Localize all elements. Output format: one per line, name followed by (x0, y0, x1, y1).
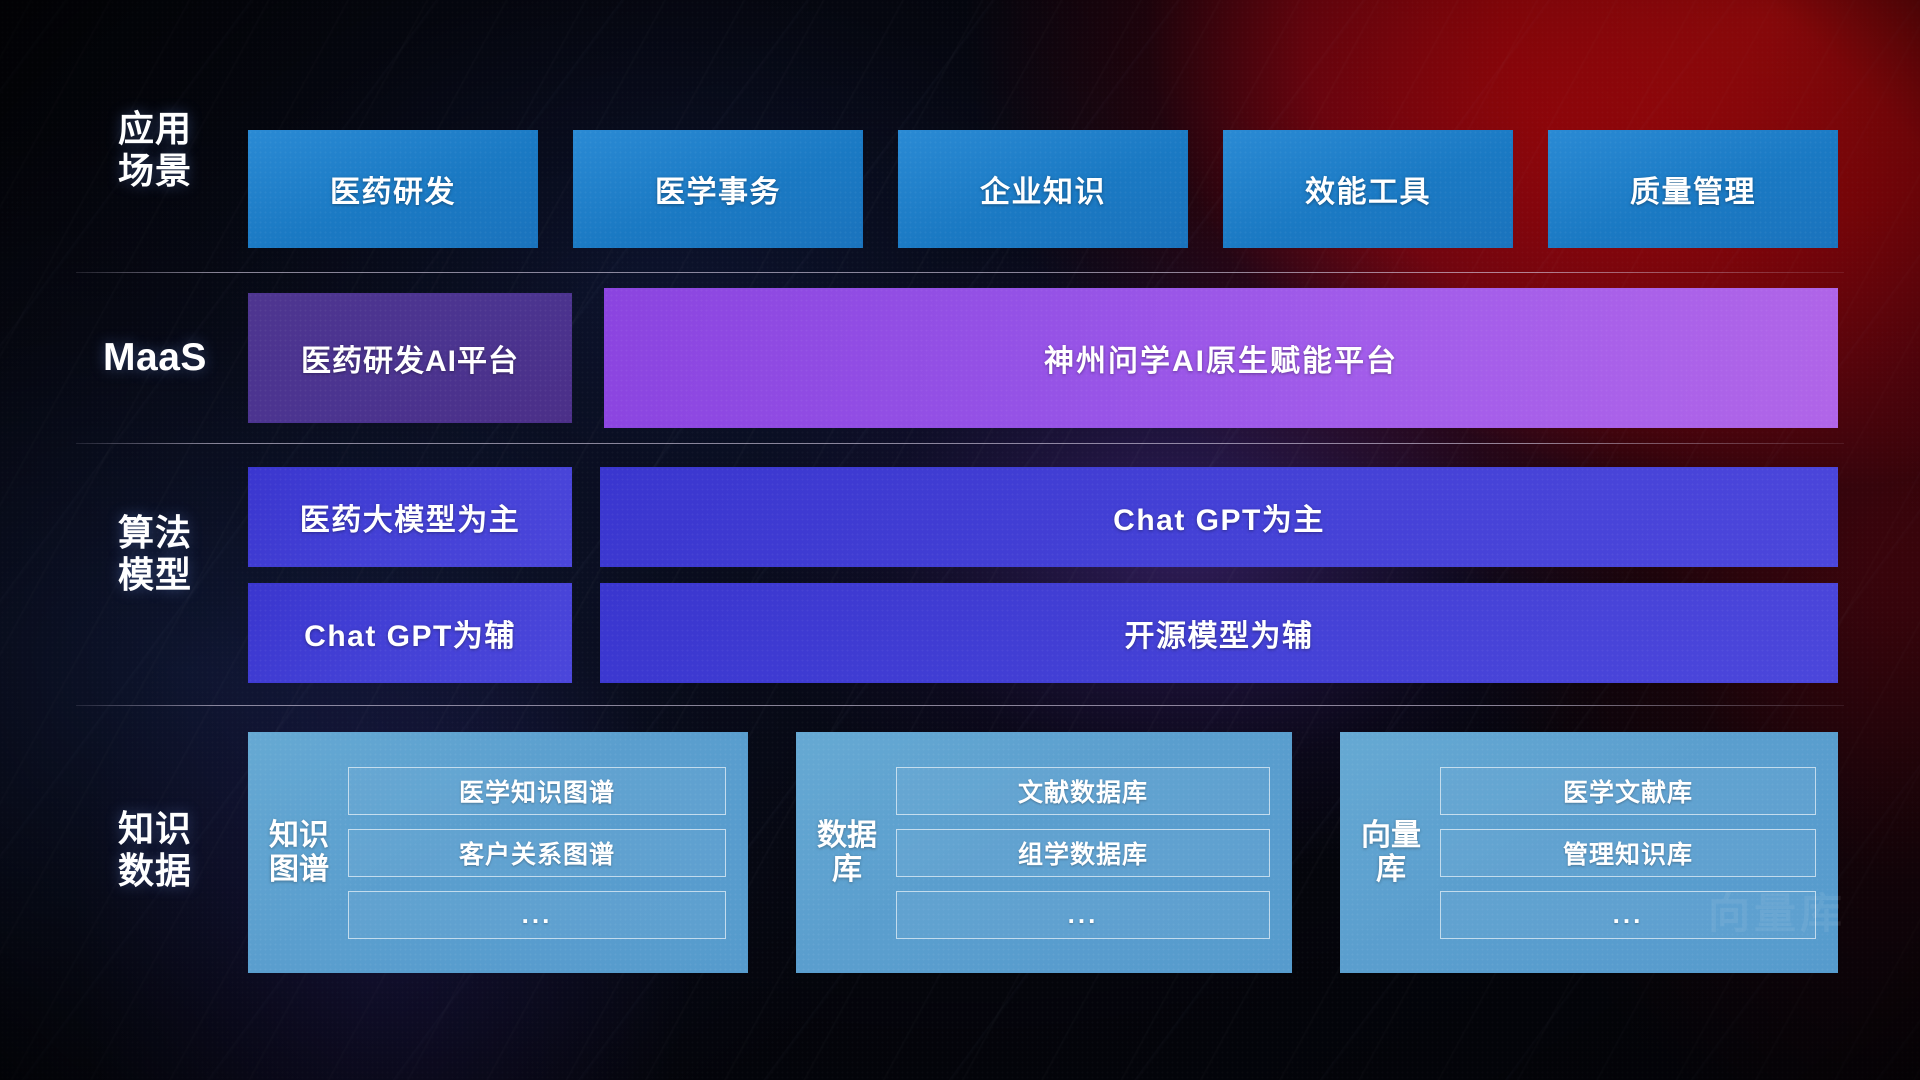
app-card-efficiency-tools-label: 效能工具 (1305, 167, 1431, 211)
app-card-enterprise-knowledge-label: 企业知识 (980, 167, 1106, 211)
app-card-medicine-rd[interactable]: 医药研发 (248, 130, 538, 248)
row-label-application: 应用 场景 (76, 108, 234, 193)
maas-card-shenzhou-ai-platform-label: 神州问学AI原生赋能平台 (1044, 336, 1398, 380)
algo-card-open-source-secondary[interactable]: 开源模型为辅 (600, 583, 1838, 683)
app-card-medical-affairs-label: 医学事务 (655, 167, 781, 211)
algo-card-open-source-secondary-label: 开源模型为辅 (1125, 611, 1314, 655)
algo-card-medicine-llm-primary-label: 医药大模型为主 (300, 495, 521, 539)
algo-card-chatgpt-primary[interactable]: Chat GPT为主 (600, 467, 1838, 567)
list-item-more[interactable]: ... (348, 891, 726, 939)
app-card-quality-management[interactable]: 质量管理 (1548, 130, 1838, 248)
knowledge-panel-vector-store-items: 医学文献库 管理知识库 ... (1428, 767, 1838, 939)
knowledge-panel-database-title: 数据库 (810, 819, 884, 886)
row-label-knowledge: 知识 数据 (76, 808, 234, 893)
list-item[interactable]: 医学知识图谱 (348, 767, 726, 815)
list-item[interactable]: 客户关系图谱 (348, 829, 726, 877)
divider-application-maas (76, 272, 1844, 273)
knowledge-panel-knowledge-graph[interactable]: 知识图谱 医学知识图谱 客户关系图谱 ... (248, 732, 748, 973)
list-item-more[interactable]: ... (1440, 891, 1816, 939)
list-item[interactable]: 组学数据库 (896, 829, 1270, 877)
divider-algorithm-knowledge (76, 705, 1844, 706)
list-item[interactable]: 管理知识库 (1440, 829, 1816, 877)
list-item-more[interactable]: ... (896, 891, 1270, 939)
maas-card-shenzhou-ai-platform[interactable]: 神州问学AI原生赋能平台 (604, 288, 1838, 428)
row-label-maas: MaaS (76, 335, 234, 381)
app-card-medical-affairs[interactable]: 医学事务 (573, 130, 863, 248)
algo-card-chatgpt-secondary[interactable]: Chat GPT为辅 (248, 583, 572, 683)
app-card-enterprise-knowledge[interactable]: 企业知识 (898, 130, 1188, 248)
knowledge-panel-knowledge-graph-title: 知识图谱 (262, 819, 336, 886)
app-card-medicine-rd-label: 医药研发 (330, 167, 456, 211)
knowledge-panel-database-items: 文献数据库 组学数据库 ... (884, 767, 1292, 939)
maas-card-medicine-ai-platform-label: 医药研发AI平台 (301, 336, 519, 380)
knowledge-panel-vector-store[interactable]: 向量库 医学文献库 管理知识库 ... (1340, 732, 1838, 973)
knowledge-panel-vector-store-title: 向量库 (1354, 819, 1428, 886)
list-item[interactable]: 文献数据库 (896, 767, 1270, 815)
app-card-efficiency-tools[interactable]: 效能工具 (1223, 130, 1513, 248)
maas-card-medicine-ai-platform[interactable]: 医药研发AI平台 (248, 293, 572, 423)
knowledge-panel-database[interactable]: 数据库 文献数据库 组学数据库 ... (796, 732, 1292, 973)
app-card-quality-management-label: 质量管理 (1630, 167, 1756, 211)
algo-card-chatgpt-primary-label: Chat GPT为主 (1113, 495, 1325, 539)
divider-maas-algorithm (76, 443, 1844, 444)
knowledge-panel-knowledge-graph-items: 医学知识图谱 客户关系图谱 ... (336, 767, 748, 939)
row-label-algorithm: 算法 模型 (76, 512, 234, 597)
algo-card-medicine-llm-primary[interactable]: 医药大模型为主 (248, 467, 572, 567)
algo-card-chatgpt-secondary-label: Chat GPT为辅 (304, 611, 516, 655)
diagram-canvas: 应用 场景 医药研发 医学事务 企业知识 效能工具 质量管理 MaaS 医药研发… (0, 0, 1920, 1080)
list-item[interactable]: 医学文献库 (1440, 767, 1816, 815)
